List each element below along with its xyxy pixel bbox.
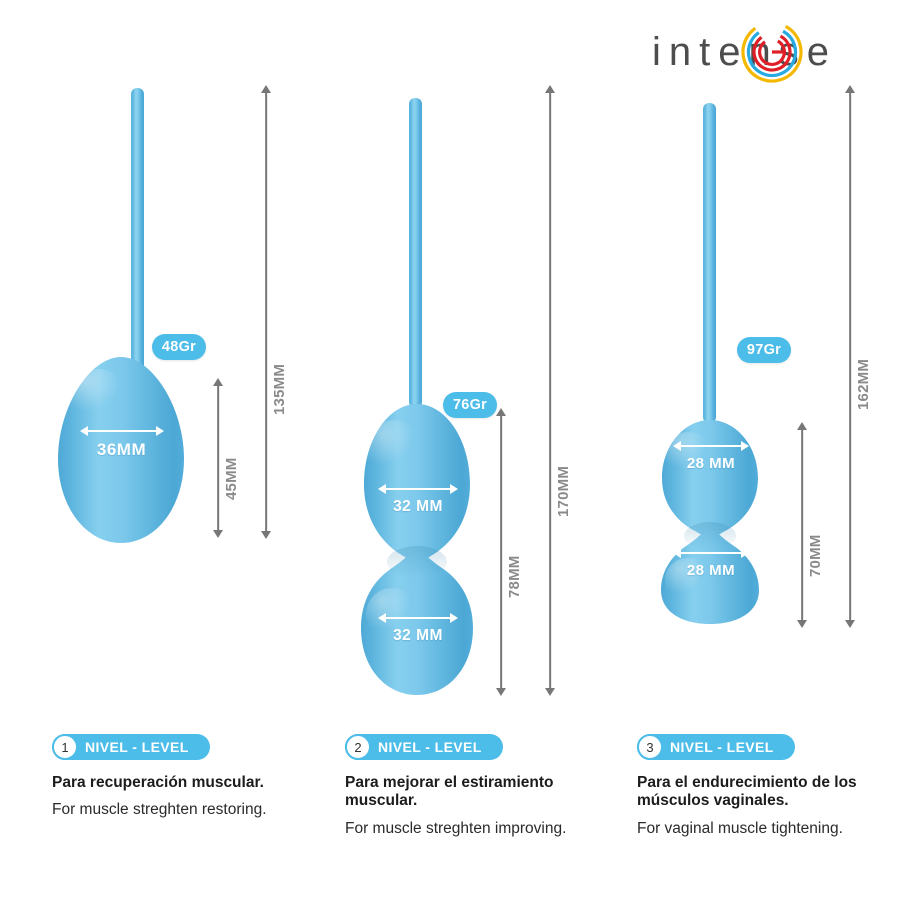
level-card-2: 2 NIVEL - LEVEL Para mejorar el estirami… xyxy=(345,734,610,838)
width-measure-bar xyxy=(385,617,451,619)
arrow-right-icon xyxy=(156,426,164,436)
width-measure-bar xyxy=(385,488,451,490)
level-3-description-es: Para el endurecimiento de los músculos v… xyxy=(637,774,867,811)
brand-logo: intense xyxy=(652,18,896,86)
product-3-weight-badge: 97Gr xyxy=(737,337,791,363)
dimension-line xyxy=(217,384,219,532)
level-2-description-es: Para mejorar el estiramiento muscular. xyxy=(345,774,610,811)
concentric-arcs-e-logo-icon xyxy=(740,20,804,84)
product-1-ball-height-dimension: 45MM xyxy=(207,378,229,538)
arrow-right-icon xyxy=(450,484,458,494)
infographic-page: intense xyxy=(0,0,900,900)
arrow-down-icon xyxy=(261,531,271,539)
product-2-weight-badge: 76Gr xyxy=(443,392,497,418)
level-card-1: 1 NIVEL - LEVEL Para recuperación muscul… xyxy=(52,734,317,820)
arrow-right-icon xyxy=(741,441,749,451)
product-1-width-label: 36MM xyxy=(64,425,179,460)
level-1-badge: 1 NIVEL - LEVEL xyxy=(52,734,210,760)
level-1-description-es: Para recuperación muscular. xyxy=(52,774,317,792)
product-2-width-value-top: 32 MM xyxy=(366,498,470,516)
product-3-width-value-top: 28 MM xyxy=(661,455,761,472)
arrow-right-icon xyxy=(450,613,458,623)
dimension-line xyxy=(849,91,851,622)
level-1-number: 1 xyxy=(52,734,78,760)
level-3-number: 3 xyxy=(637,734,663,760)
arrow-down-icon xyxy=(545,688,555,696)
level-2-badge: 2 NIVEL - LEVEL xyxy=(345,734,503,760)
product-1-weight-value: 48Gr xyxy=(162,339,196,355)
level-3-description-en: For vaginal muscle tightening. xyxy=(637,820,867,839)
product-1-ball-height-value: 45MM xyxy=(223,458,240,500)
product-3-total-height-dimension: 162MM xyxy=(839,85,861,628)
product-2-width-value-bottom: 32 MM xyxy=(366,627,470,645)
width-measure-bar xyxy=(680,445,742,447)
arrow-right-icon xyxy=(741,548,749,558)
level-2-label: NIVEL - LEVEL xyxy=(378,734,482,760)
level-2-number: 2 xyxy=(345,734,371,760)
product-2-total-height-dimension: 170MM xyxy=(539,85,561,696)
width-measure-bar xyxy=(680,552,742,554)
arrow-down-icon xyxy=(845,620,855,628)
level-1-description-en: For muscle streghten restoring. xyxy=(52,801,317,820)
product-2-ball-height-value: 78MM xyxy=(506,556,523,598)
product-3-width-label-top: 28 MM xyxy=(661,440,761,472)
width-measure-bar xyxy=(87,430,157,432)
product-2-width-label-bottom: 32 MM xyxy=(366,612,470,645)
product-1-weight-badge: 48Gr xyxy=(152,334,206,360)
product-3-weight-value: 97Gr xyxy=(747,342,781,358)
product-2-ball xyxy=(358,402,476,698)
product-3-ball-height-value: 70MM xyxy=(807,535,824,577)
product-3-width-label-bottom: 28 MM xyxy=(661,547,761,579)
dimension-line xyxy=(801,428,803,622)
product-2-weight-value: 76Gr xyxy=(453,397,487,413)
level-card-3: 3 NIVEL - LEVEL Para el endurecimiento d… xyxy=(637,734,867,838)
dimension-line xyxy=(265,91,267,533)
level-3-label: NIVEL - LEVEL xyxy=(670,734,774,760)
arrow-down-icon xyxy=(213,530,223,538)
product-3-ball-height-dimension: 70MM xyxy=(791,422,813,628)
product-2-width-label-top: 32 MM xyxy=(366,483,470,516)
level-1-label: NIVEL - LEVEL xyxy=(85,734,189,760)
arrow-down-icon xyxy=(797,620,807,628)
product-2-ball-height-dimension: 78MM xyxy=(490,408,512,696)
product-1-total-height-dimension: 135MM xyxy=(255,85,277,539)
arrow-down-icon xyxy=(496,688,506,696)
level-2-description-en: For muscle streghten improving. xyxy=(345,820,610,839)
product-3-retrieval-cord xyxy=(703,103,716,423)
product-2-total-height-value: 170MM xyxy=(555,466,572,517)
product-3-total-height-value: 162MM xyxy=(855,359,872,410)
product-3-width-value-bottom: 28 MM xyxy=(661,562,761,579)
product-1-retrieval-cord xyxy=(131,88,144,378)
dimension-line xyxy=(500,414,502,690)
product-2-retrieval-cord xyxy=(409,98,422,408)
level-3-badge: 3 NIVEL - LEVEL xyxy=(637,734,795,760)
product-1-width-value: 36MM xyxy=(64,440,179,460)
dimension-line xyxy=(549,91,551,690)
product-1-total-height-value: 135MM xyxy=(271,364,288,415)
